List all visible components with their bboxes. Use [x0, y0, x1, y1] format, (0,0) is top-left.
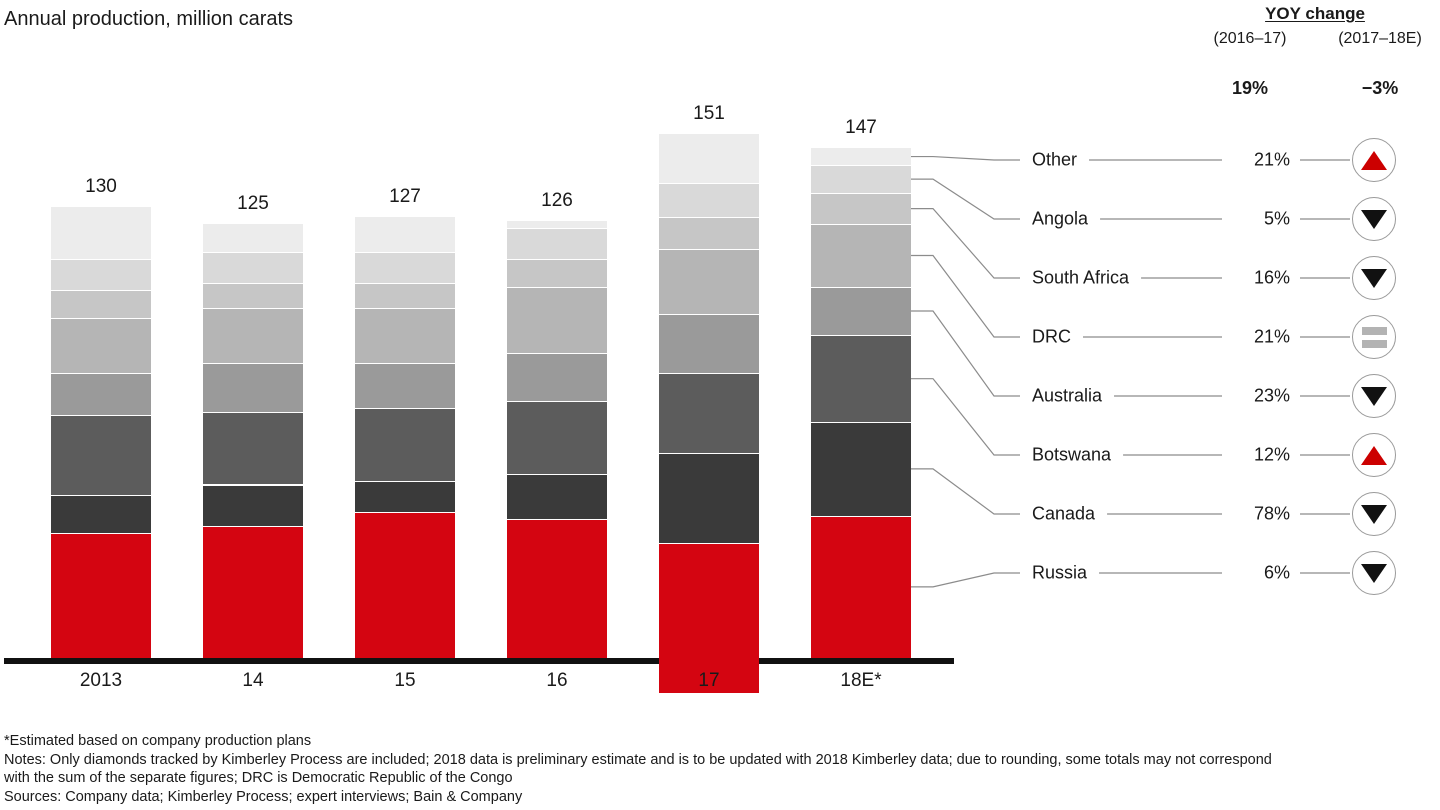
triangle-down-icon: [1352, 374, 1396, 418]
chart-canvas: Annual production, million carats YOY ch…: [0, 0, 1440, 810]
equals-icon: [1352, 315, 1396, 359]
triangle-down-icon: [1352, 197, 1396, 241]
footnote-notes-2: with the sum of the separate figures; DR…: [4, 769, 1436, 788]
legend-pct-other: 21%: [1170, 150, 1290, 171]
legend-label-botswana[interactable]: Botswana: [1032, 445, 1111, 466]
triangle-down-icon: [1352, 492, 1396, 536]
legend-panel: Other21%Angola5%South Africa16%DRC21%Aus…: [0, 0, 1440, 700]
legend-pct-russia: 6%: [1170, 563, 1290, 584]
footnote-notes-1: Notes: Only diamonds tracked by Kimberle…: [4, 751, 1436, 770]
legend-label-south-africa[interactable]: South Africa: [1032, 268, 1129, 289]
triangle-down-glyph: [1361, 210, 1387, 229]
legend-pct-australia: 23%: [1170, 386, 1290, 407]
legend-pct-canada: 78%: [1170, 504, 1290, 525]
triangle-up-glyph: [1361, 151, 1387, 170]
legend-label-russia[interactable]: Russia: [1032, 563, 1087, 584]
legend-pct-botswana: 12%: [1170, 445, 1290, 466]
legend-pct-drc: 21%: [1170, 327, 1290, 348]
footnote-sources: Sources: Company data; Kimberley Process…: [4, 788, 1436, 807]
triangle-up-glyph: [1361, 446, 1387, 465]
equals-glyph: [1362, 327, 1387, 348]
triangle-down-glyph: [1361, 564, 1387, 583]
footnotes: *Estimated based on company production p…: [4, 732, 1436, 806]
legend-label-drc[interactable]: DRC: [1032, 327, 1071, 348]
legend-label-australia[interactable]: Australia: [1032, 386, 1102, 407]
triangle-down-glyph: [1361, 387, 1387, 406]
legend-pct-angola: 5%: [1170, 209, 1290, 230]
footnote-estimate: *Estimated based on company production p…: [4, 732, 1436, 751]
legend-label-angola[interactable]: Angola: [1032, 209, 1088, 230]
triangle-down-glyph: [1361, 269, 1387, 288]
triangle-up-icon: [1352, 138, 1396, 182]
triangle-down-icon: [1352, 551, 1396, 595]
legend-pct-south-africa: 16%: [1170, 268, 1290, 289]
triangle-down-icon: [1352, 256, 1396, 300]
legend-label-other[interactable]: Other: [1032, 150, 1077, 171]
legend-label-canada[interactable]: Canada: [1032, 504, 1095, 525]
triangle-up-icon: [1352, 433, 1396, 477]
triangle-down-glyph: [1361, 505, 1387, 524]
